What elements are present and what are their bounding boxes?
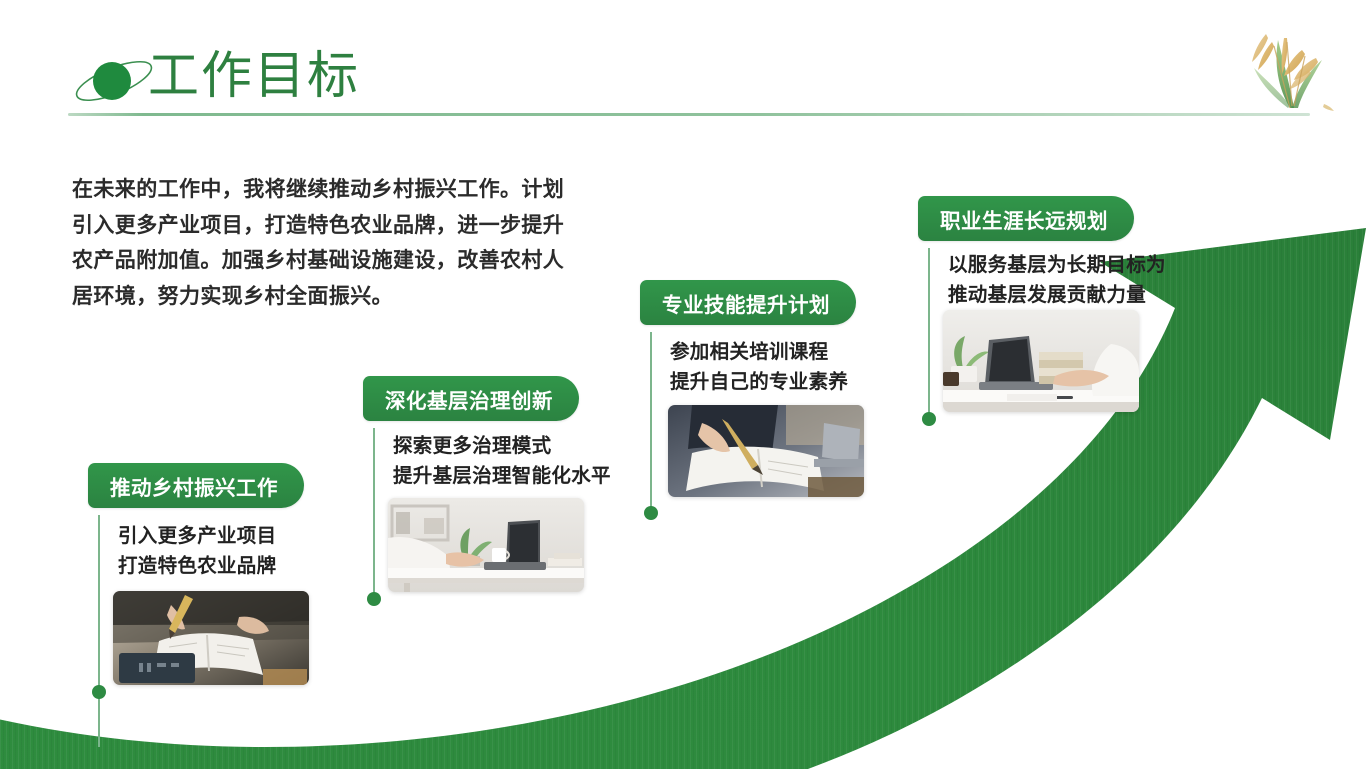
step-3-dot: [644, 506, 658, 520]
wheat-stalks-icon: [1232, 16, 1352, 116]
step-3-badge[interactable]: 专业技能提升计划: [640, 280, 856, 325]
step-card-1[interactable]: 推动乡村振兴工作 引入更多产业项目 打造特色农业品牌: [88, 463, 388, 713]
step-3-connector-line: [650, 332, 652, 514]
planet-icon: [68, 52, 160, 110]
step-2-dot: [367, 592, 381, 606]
step-4-dot: [922, 412, 936, 426]
step-3-photo: [668, 405, 864, 497]
step-2-badge[interactable]: 深化基层治理创新: [363, 376, 579, 421]
step-3-line-2: 提升自己的专业素养: [670, 367, 848, 397]
step-4-badge[interactable]: 职业生涯长远规划: [918, 196, 1134, 241]
step-3-text: 参加相关培训课程 提升自己的专业素养: [670, 337, 848, 397]
step-1-line-1: 引入更多产业项目: [118, 521, 276, 551]
step-2-line-2: 提升基层治理智能化水平: [393, 461, 611, 491]
step-4-line-1: 以服务基层为长期目标为: [948, 250, 1166, 280]
step-card-4[interactable]: 职业生涯长远规划 以服务基层为长期目标为 推动基层发展贡献力量: [918, 196, 1218, 446]
step-1-line-2: 打造特色农业品牌: [118, 551, 276, 581]
step-3-line-1: 参加相关培训课程: [670, 337, 848, 367]
step-2-photo: [388, 498, 584, 592]
step-2-connector-line: [373, 428, 375, 600]
step-4-photo: [943, 310, 1139, 412]
step-1-connector-line: [98, 515, 100, 747]
step-card-3[interactable]: 专业技能提升计划 参加相关培训课程 提升自己的专业素养: [640, 280, 940, 540]
step-4-connector-line: [928, 248, 930, 420]
step-1-text: 引入更多产业项目 打造特色农业品牌: [118, 521, 276, 581]
step-1-photo: [113, 591, 309, 685]
title-underline-rule: [68, 113, 1310, 116]
step-4-line-2: 推动基层发展贡献力量: [948, 280, 1166, 310]
step-2-text: 探索更多治理模式 提升基层治理智能化水平: [393, 431, 611, 491]
page-title: 工作目标: [148, 48, 360, 106]
step-2-line-1: 探索更多治理模式: [393, 431, 611, 461]
step-4-text: 以服务基层为长期目标为 推动基层发展贡献力量: [948, 250, 1166, 310]
slide-header: 工作目标: [0, 0, 1366, 125]
step-1-dot: [92, 685, 106, 699]
slide-canvas: 工作目标: [0, 0, 1366, 769]
step-1-badge[interactable]: 推动乡村振兴工作: [88, 463, 304, 508]
